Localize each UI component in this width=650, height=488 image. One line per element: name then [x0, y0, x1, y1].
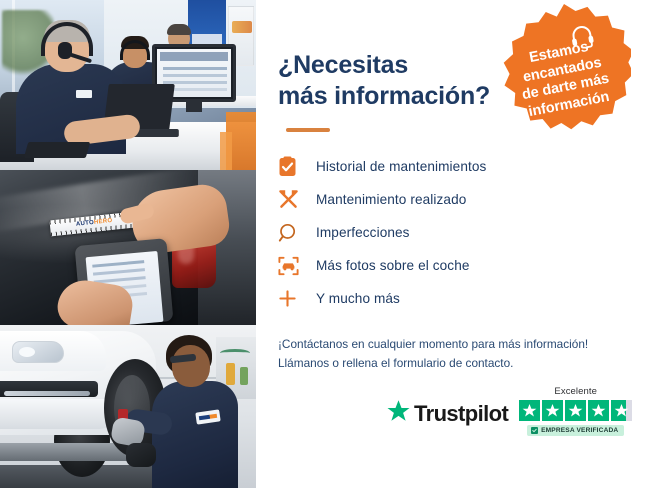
car-frame-icon: [278, 256, 308, 276]
car-inspection-ruler-photo: AUTOHERO: [0, 170, 256, 325]
mechanic-glove-lower: [126, 443, 156, 467]
desk-tablet: [24, 142, 91, 158]
content-panel: ¿Necesitas más información? Historial de…: [256, 0, 650, 488]
magnifier-icon: [278, 223, 308, 243]
mechanic-body: [152, 381, 238, 488]
star-partial: [611, 400, 632, 421]
contact-text: ¡Contáctanos en cualquier momento para m…: [278, 335, 623, 373]
shelf-bottle-yellow: [226, 363, 235, 385]
ruler-brand-part-two: HERO: [94, 218, 113, 226]
clipboard-check-icon: [278, 156, 308, 177]
trustpilot-wordmark: Trustpilot: [414, 401, 508, 427]
feature-label: Mantenimiento realizado: [316, 192, 466, 207]
trustpilot-score: Excelente: [519, 386, 632, 436]
trustpilot-logo[interactable]: Trustpilot: [386, 399, 508, 428]
contact-line-1: ¡Contáctanos en cualquier momento para m…: [278, 337, 588, 351]
agent-one-name-badge: [76, 90, 92, 98]
contact-info-banner: AUTOHERO: [0, 0, 650, 488]
star-filled: [588, 400, 609, 421]
mechanic-head: [172, 345, 210, 387]
page-title: ¿Necesitas más información?: [278, 50, 518, 111]
trustpilot-rating[interactable]: Trustpilot Excelente: [386, 386, 632, 436]
feature-label: Imperfecciones: [316, 225, 410, 240]
list-item: Historial de mantenimientos: [278, 150, 650, 183]
list-item: Imperfecciones: [278, 216, 650, 249]
feature-label: Y mucho más: [316, 291, 400, 306]
photo-collage: AUTOHERO: [0, 0, 256, 488]
star-filled: [565, 400, 586, 421]
verified-label: EMPRESA VERIFICADA: [541, 427, 618, 434]
car-bumper: [0, 399, 114, 429]
list-item: Mantenimiento realizado: [278, 183, 650, 216]
crossed-tools-icon: [278, 189, 308, 210]
mechanic-wheel-inspection-photo: [0, 325, 256, 488]
accent-divider: [286, 128, 330, 132]
feature-list: Historial de mantenimientos: [278, 150, 650, 315]
call-center-agents-photo: [0, 0, 256, 170]
agent-three-hair: [167, 24, 191, 35]
status-badge: EMPRESA VERIFICADA: [527, 425, 624, 436]
car-headlight: [12, 341, 64, 363]
ruler-brand-part-one: AUTO: [76, 220, 95, 228]
feature-label: Más fotos sobre el coche: [316, 258, 470, 273]
list-item: Y mucho más: [278, 282, 650, 315]
list-item: Más fotos sobre el coche: [278, 249, 650, 282]
promo-badge: Estamos encantados de darte más informac…: [497, 4, 631, 138]
headline-line-1: ¿Necesitas: [278, 51, 408, 79]
coiled-hose: [220, 349, 250, 357]
monitor-stand: [186, 102, 202, 112]
bumper-chrome-trim: [4, 391, 90, 396]
rating-label: Excelente: [554, 386, 597, 397]
orange-signage-secondary: [220, 132, 232, 170]
star-filled: [519, 400, 540, 421]
feature-label: Historial de mantenimientos: [316, 159, 486, 174]
plus-icon: [278, 289, 308, 308]
headline-line-2: más información?: [278, 82, 490, 110]
verified-check-icon: [531, 427, 538, 434]
shelf-bottle-green: [240, 367, 248, 385]
star-filled: [542, 400, 563, 421]
contact-line-2: Llámanos o rellena el formulario de cont…: [278, 356, 513, 370]
trustpilot-star-icon: [386, 399, 411, 428]
star-rating: [519, 400, 632, 421]
